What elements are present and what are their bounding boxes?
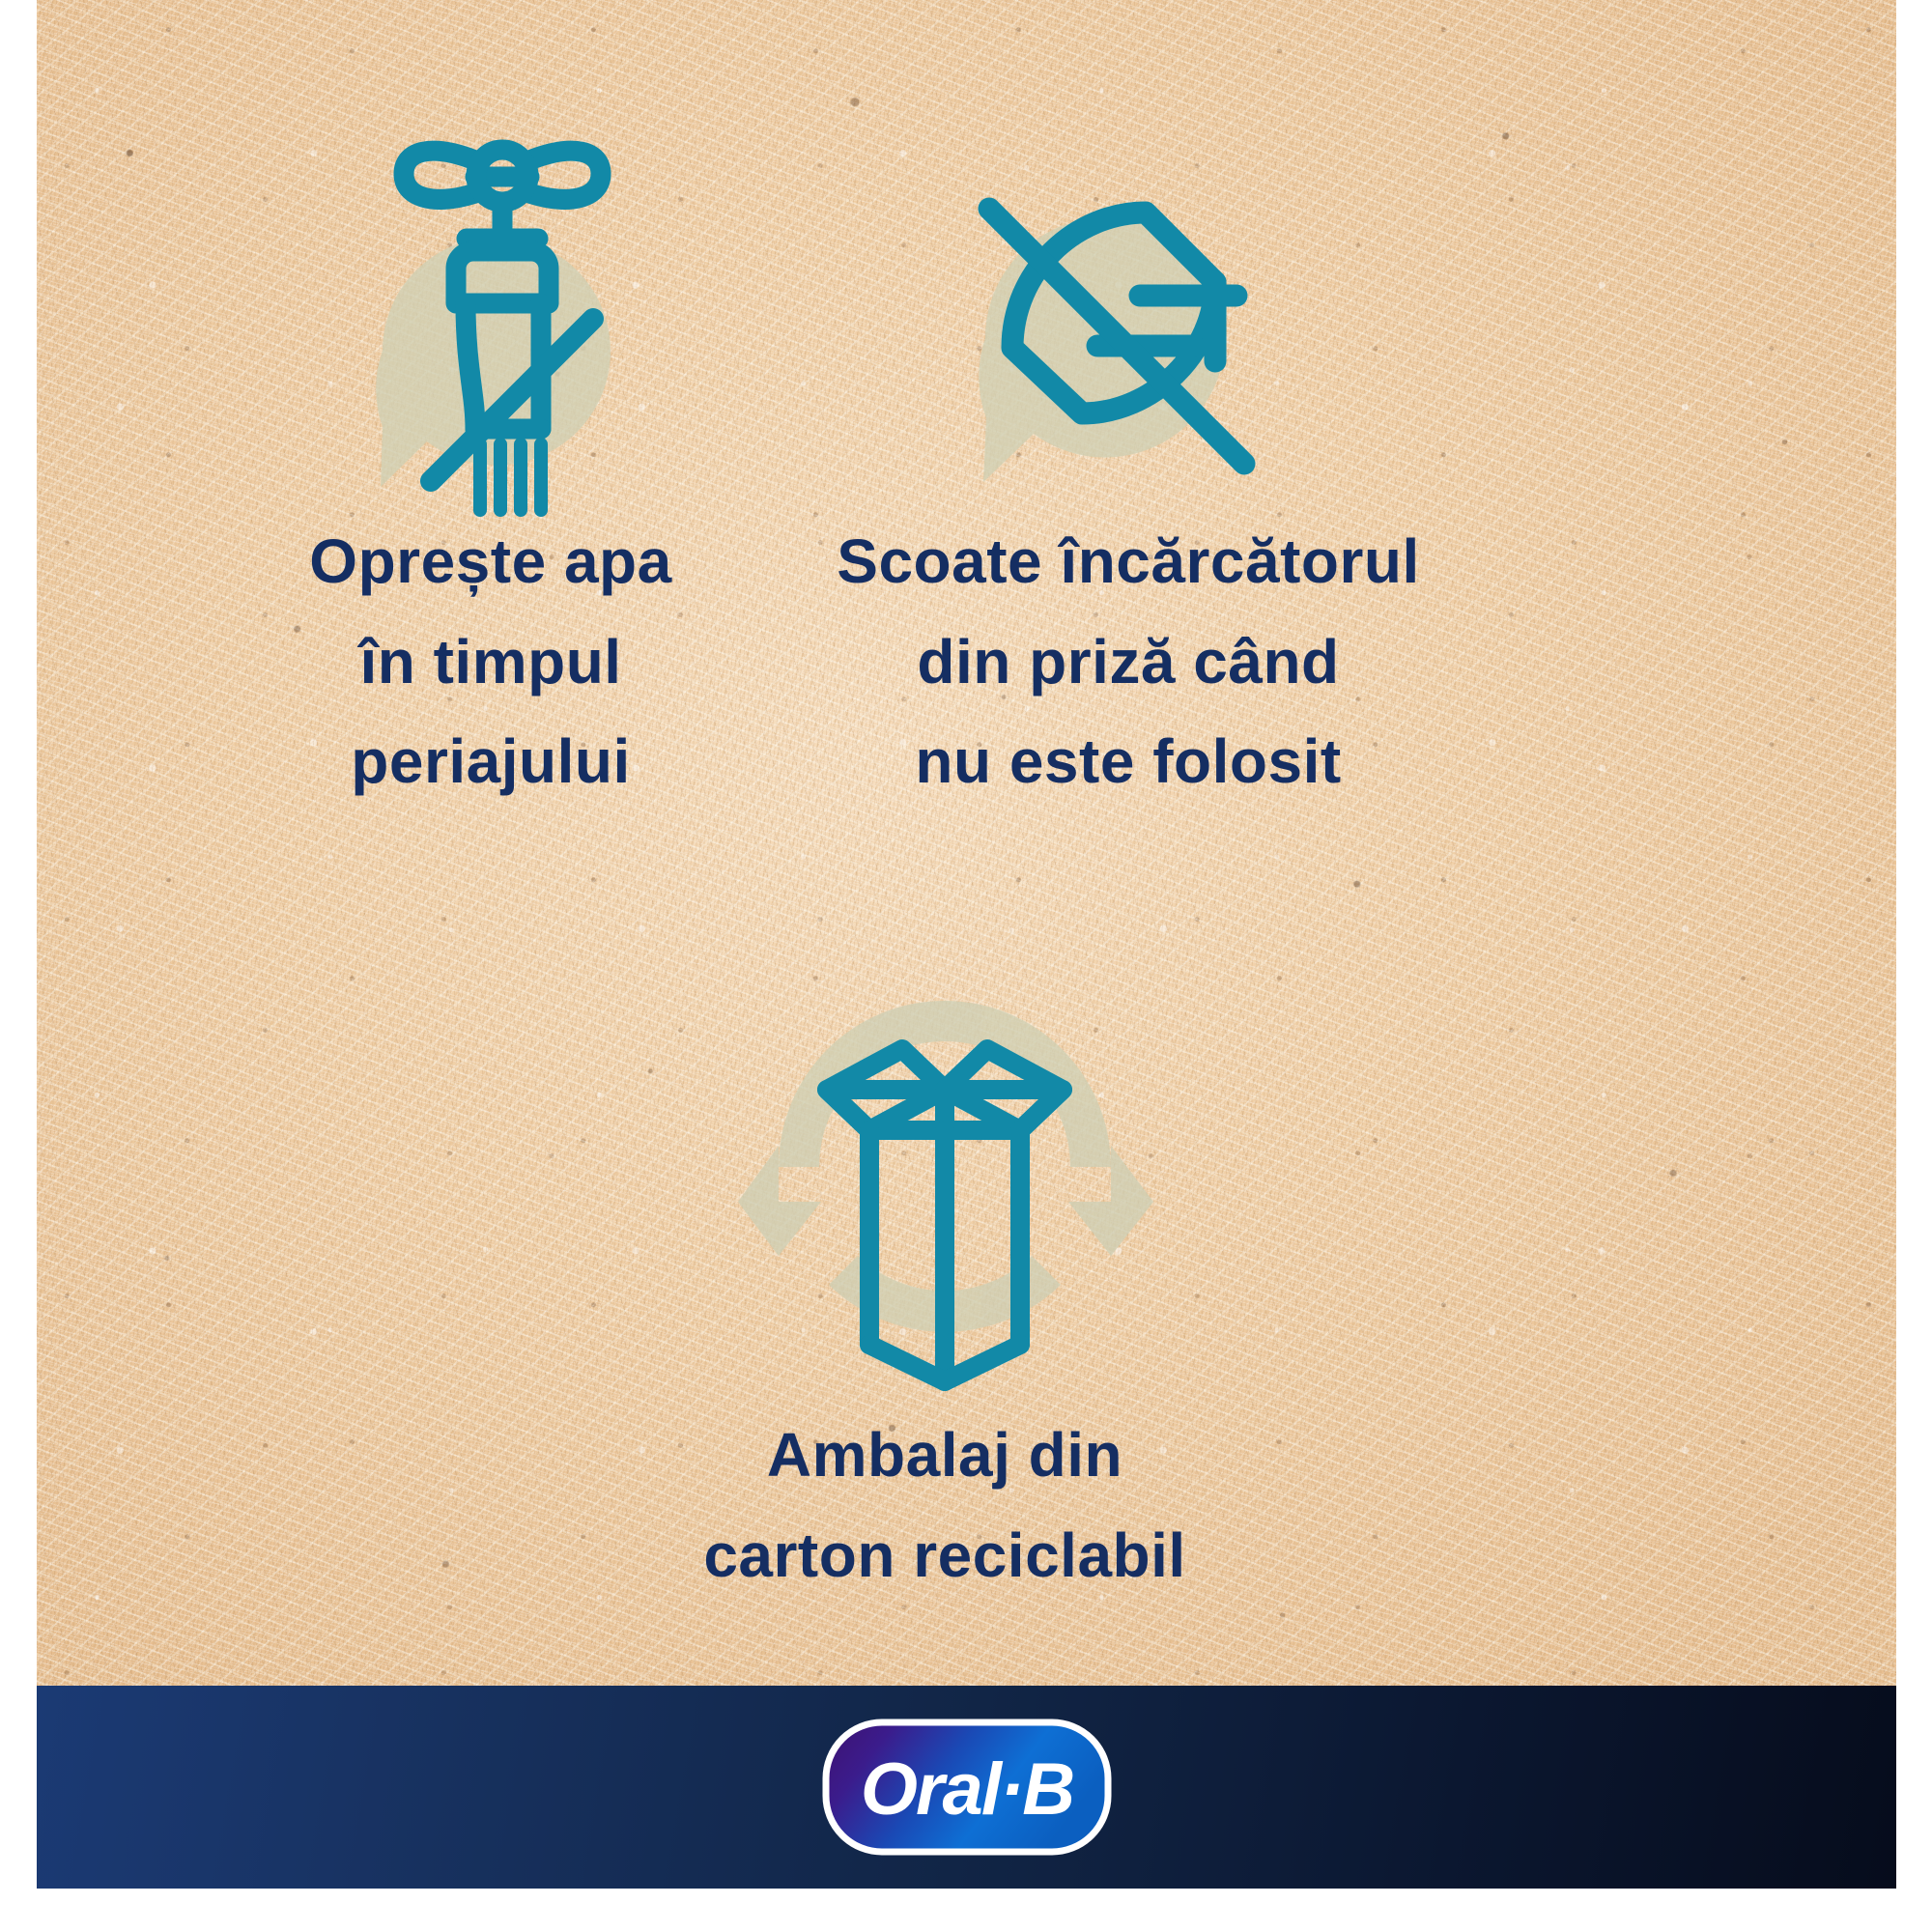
unplug-charger-icon <box>896 124 1312 510</box>
brand-band: Oral·B <box>37 1686 1896 1889</box>
svg-text:Oral·B: Oral·B <box>860 1748 1072 1831</box>
oral-b-logo: Oral·B <box>822 1719 1112 1856</box>
eco-tips-poster: Oprește apa în timpul periajului Scoate <box>37 0 1896 1889</box>
recyclable-box-icon <box>713 966 1177 1401</box>
tip-caption-water: Oprește apa în timpul periajului <box>201 512 781 812</box>
tip-caption-packaging: Ambalaj din carton reciclabil <box>520 1406 1370 1605</box>
faucet-no-water-icon <box>286 104 692 520</box>
tip-caption-charger: Scoate încărcătorul din priză când nu es… <box>771 512 1486 812</box>
